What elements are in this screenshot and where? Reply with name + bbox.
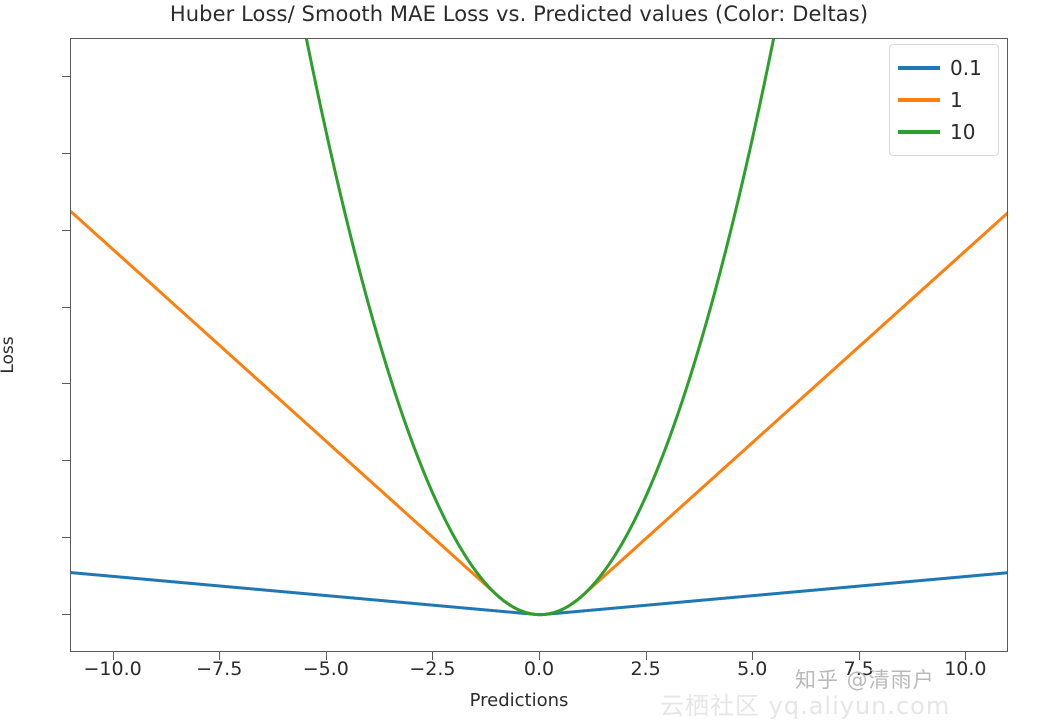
x-tick-mark	[539, 652, 540, 660]
series-line-0.1	[71, 573, 1008, 615]
x-tick-mark	[432, 652, 433, 660]
legend-item-0.1[interactable]: 0.1	[898, 52, 990, 84]
x-tick-mark	[326, 652, 327, 660]
chart-figure: Huber Loss/ Smooth MAE Loss vs. Predicte…	[0, 0, 1038, 721]
x-tick-label: −2.5	[387, 658, 477, 680]
series-line-1	[71, 212, 1008, 615]
legend-label: 1	[950, 90, 963, 110]
plot-svg	[71, 39, 1008, 652]
legend-swatch-icon	[898, 130, 940, 134]
x-tick-label: −7.5	[174, 658, 264, 680]
x-tick-mark	[965, 652, 966, 660]
y-tick-mark	[62, 460, 70, 461]
y-tick-mark	[62, 537, 70, 538]
aliyun-watermark: 云栖社区 yq.aliyun.com	[660, 686, 950, 721]
x-tick-label: 0.0	[494, 658, 584, 680]
legend-item-10[interactable]: 10	[898, 116, 990, 148]
legend-label: 0.1	[950, 58, 982, 78]
y-tick-mark	[62, 230, 70, 231]
x-tick-mark	[859, 652, 860, 660]
x-tick-mark	[219, 652, 220, 660]
plot-area	[70, 38, 1008, 652]
x-tick-mark	[113, 652, 114, 660]
legend-label: 10	[950, 122, 975, 142]
x-tick-label: −5.0	[281, 658, 371, 680]
x-tick-label: 5.0	[707, 658, 797, 680]
legend-swatch-icon	[898, 98, 940, 102]
chart-legend[interactable]: 0.1110	[889, 44, 999, 156]
y-tick-mark	[62, 307, 70, 308]
x-tick-label: −10.0	[68, 658, 158, 680]
x-tick-mark	[646, 652, 647, 660]
y-tick-mark	[62, 614, 70, 615]
legend-swatch-icon	[898, 66, 940, 70]
x-tick-label: 2.5	[601, 658, 691, 680]
y-tick-mark	[62, 153, 70, 154]
y-axis-label: Loss	[0, 325, 18, 385]
legend-item-1[interactable]: 1	[898, 84, 990, 116]
y-tick-mark	[62, 76, 70, 77]
chart-title: Huber Loss/ Smooth MAE Loss vs. Predicte…	[0, 2, 1038, 26]
x-tick-mark	[752, 652, 753, 660]
series-line-10	[71, 39, 1008, 615]
y-tick-mark	[62, 383, 70, 384]
